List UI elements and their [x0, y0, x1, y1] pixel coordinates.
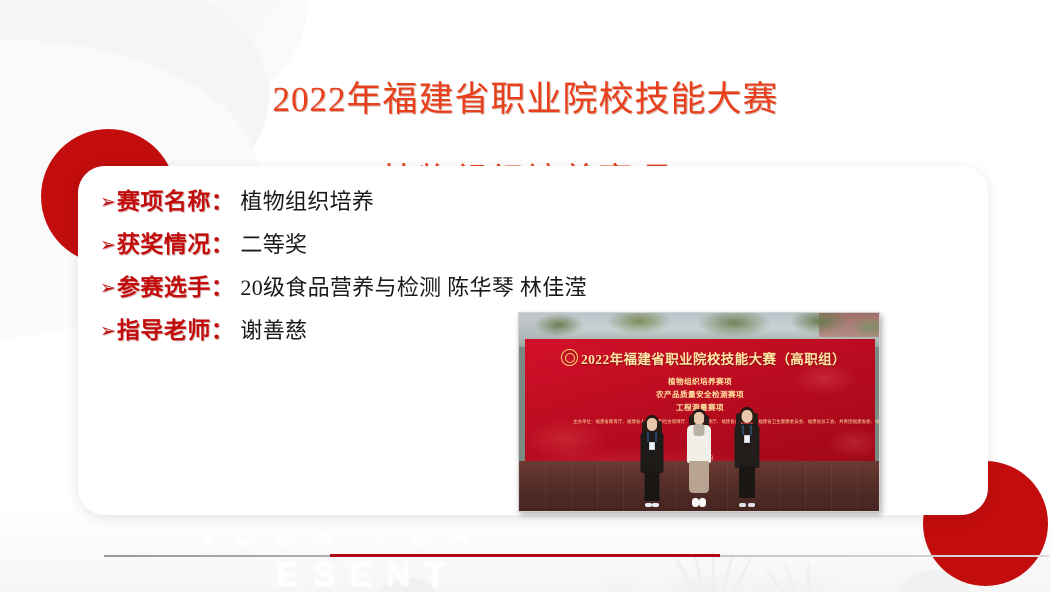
watermark-text-line2: ESENT [276, 556, 459, 592]
person-lanyard [648, 432, 657, 442]
list-item-label: 赛项名称： [117, 182, 235, 216]
arrow-bullet-icon: ➢ [100, 193, 116, 212]
list-item-label: 参赛选手： [117, 268, 235, 302]
person-skirt [689, 461, 709, 493]
person-shoe [692, 498, 699, 507]
person-shoe [739, 503, 746, 507]
emblem-seal-icon [561, 349, 578, 366]
list-item: ➢ 获奖情况： 二等奖 [100, 225, 720, 259]
person-shoe [645, 503, 652, 507]
person-head [647, 418, 658, 431]
list-item-value: 谢善慈 [240, 313, 307, 345]
bottom-plant-texture [0, 506, 1051, 592]
person-head [742, 410, 753, 423]
page-title-line1: 2022年福建省职业院校技能大赛 [0, 79, 1051, 120]
person-badge [649, 442, 655, 450]
competition-photo: 2022年福建省职业院校技能大赛（高职组） 植物组织培养赛项 农产品质量安全检测… [518, 312, 880, 512]
person-lanyard [743, 425, 752, 435]
watermark-text-line1: YOUR PLA [196, 515, 484, 554]
banner-subtitle-2: 农产品质量安全检测赛项 [525, 389, 875, 400]
arrow-bullet-icon: ➢ [100, 279, 116, 298]
person-shoe [699, 498, 706, 507]
banner-subtitle-1: 植物组织培养赛项 [525, 376, 875, 387]
arrow-bullet-icon: ➢ [100, 236, 116, 255]
list-item-value: 植物组织培养 [240, 184, 374, 216]
arrow-bullet-icon: ➢ [100, 322, 116, 341]
person-badge [744, 435, 750, 443]
person-trousers [739, 466, 755, 498]
list-item-value: 二等奖 [240, 227, 307, 259]
list-item-value: 20级食品营养与检测 陈华琴 林佳滢 [240, 270, 586, 302]
list-item-label: 获奖情况： [117, 225, 235, 259]
person-shoe [652, 503, 659, 507]
list-item-label: 指导老师： [117, 311, 235, 345]
person-trousers [645, 471, 660, 501]
list-item: ➢ 参赛选手： 20级食品营养与检测 陈华琴 林佳滢 [100, 268, 720, 302]
presentation-slide: YOUR PLA ESENT 2022年福建省职业院校技能大赛 植物组织培养赛项… [0, 0, 1051, 592]
photo-person [683, 409, 715, 507]
person-shoe [748, 503, 755, 507]
divider-line-red [330, 554, 720, 557]
banner-main-title: 2022年福建省职业院校技能大赛（高职组） [581, 348, 846, 368]
person-scarf [694, 424, 705, 436]
photo-person [637, 415, 667, 507]
photo-person [731, 407, 763, 507]
list-item: ➢ 赛项名称： 植物组织培养 [100, 182, 720, 216]
